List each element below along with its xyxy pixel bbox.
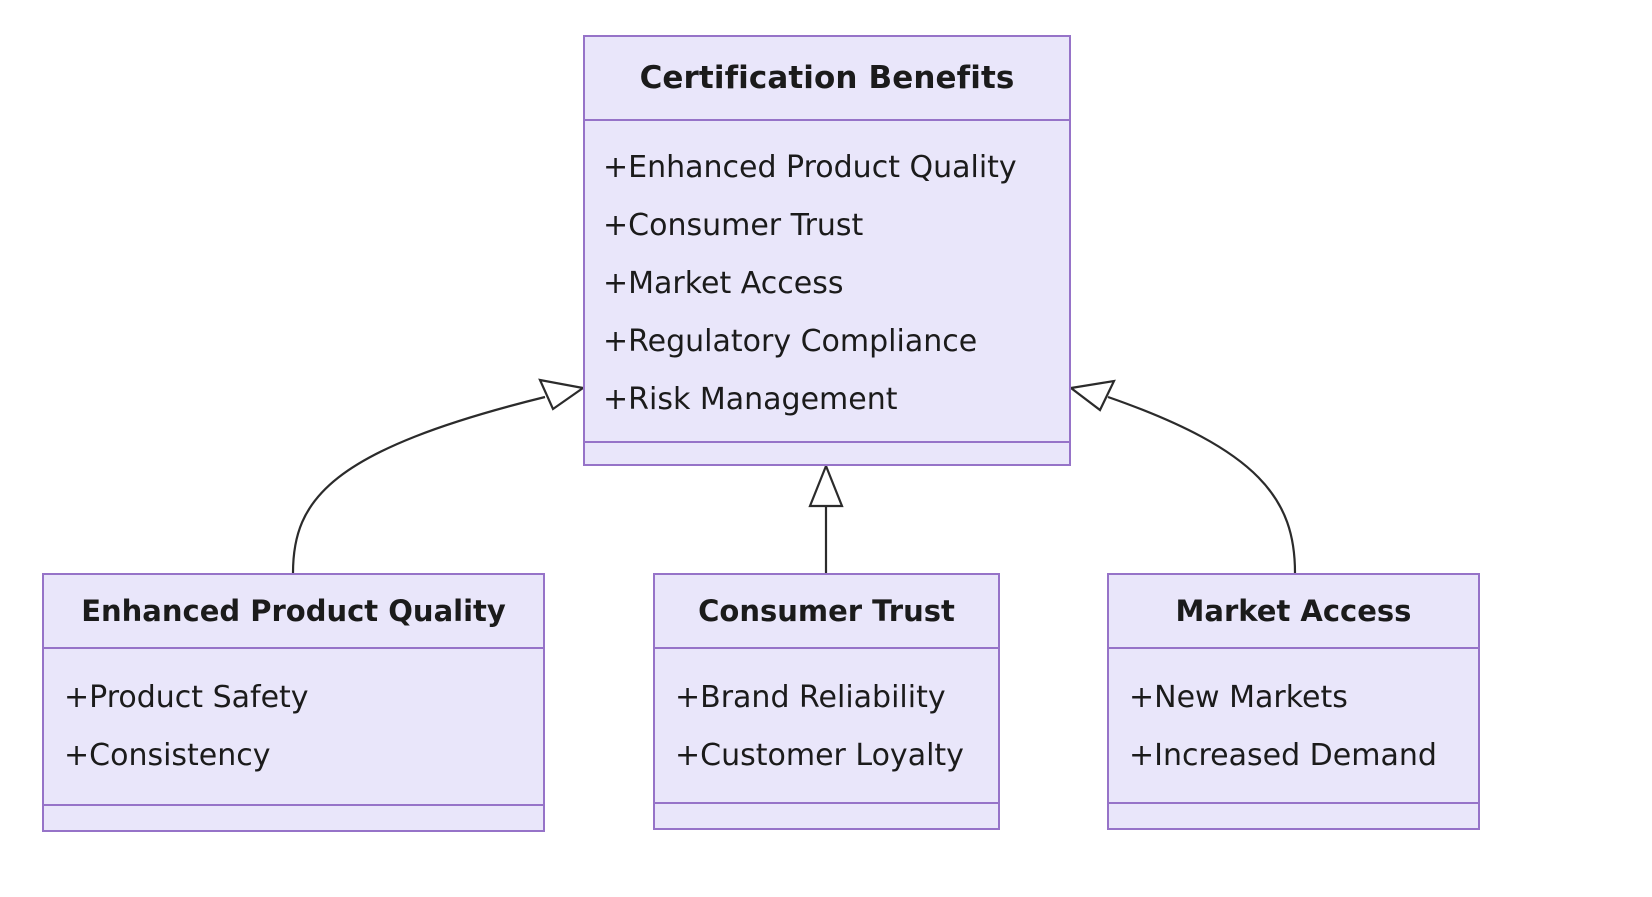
class-box-market-access[interactable]: Market Access +New Markets +Increased De… [1107, 573, 1480, 830]
generalization-market-access [1071, 381, 1295, 573]
attribute-item: +Consumer Trust [603, 197, 1069, 255]
class-box-enhanced-product-quality[interactable]: Enhanced Product Quality +Product Safety… [42, 573, 545, 832]
attributes-compartment: +New Markets +Increased Demand [1109, 649, 1478, 804]
attribute-item: +Brand Reliability [675, 669, 998, 727]
class-box-certification-benefits[interactable]: Certification Benefits +Enhanced Product… [583, 35, 1071, 466]
attribute-item: +Product Safety [64, 669, 543, 727]
generalization-consumer-trust [810, 466, 842, 573]
class-name-market-access: Market Access [1109, 575, 1478, 649]
attributes-compartment: +Enhanced Product Quality +Consumer Trus… [585, 121, 1069, 443]
attributes-compartment: +Brand Reliability +Customer Loyalty [655, 649, 998, 804]
attributes-compartment: +Product Safety +Consistency [44, 649, 543, 806]
attribute-item: +Risk Management [603, 371, 1069, 429]
attribute-item: +Enhanced Product Quality [603, 139, 1069, 197]
class-box-consumer-trust[interactable]: Consumer Trust +Brand Reliability +Custo… [653, 573, 1000, 830]
methods-compartment [655, 804, 998, 828]
attribute-item: +Customer Loyalty [675, 727, 998, 785]
methods-compartment [44, 806, 543, 830]
generalization-enhanced-product-quality [293, 380, 583, 573]
class-name-certification-benefits: Certification Benefits [585, 37, 1069, 121]
methods-compartment [1109, 804, 1478, 828]
attribute-item: +New Markets [1129, 669, 1478, 727]
attribute-item: +Market Access [603, 255, 1069, 313]
attribute-item: +Consistency [64, 727, 543, 785]
class-name-consumer-trust: Consumer Trust [655, 575, 998, 649]
attribute-item: +Increased Demand [1129, 727, 1478, 785]
diagram-canvas: Certification Benefits +Enhanced Product… [0, 0, 1652, 897]
class-name-enhanced-product-quality: Enhanced Product Quality [44, 575, 543, 649]
attribute-item: +Regulatory Compliance [603, 313, 1069, 371]
methods-compartment [585, 443, 1069, 464]
